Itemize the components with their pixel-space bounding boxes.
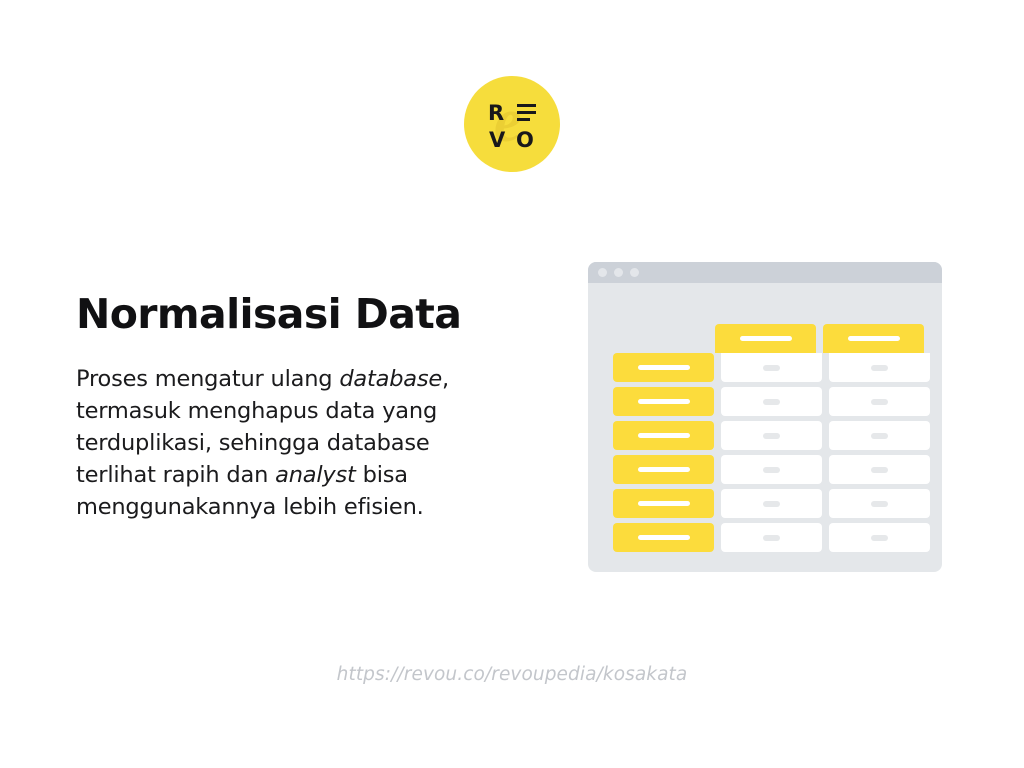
table-header-row — [715, 324, 924, 353]
table-row — [613, 489, 930, 518]
row-label-placeholder — [638, 365, 690, 370]
page-description: Proses mengatur ulang database, termasuk… — [76, 364, 506, 524]
table-cell — [721, 489, 822, 518]
window-dot-close-icon — [598, 268, 607, 277]
table-row — [613, 421, 930, 450]
description-italic-database: database — [339, 366, 442, 392]
table-row-header — [613, 523, 714, 552]
table-cell — [829, 353, 930, 382]
table-row-header — [613, 387, 714, 416]
browser-titlebar — [588, 262, 942, 283]
window-dot-maximize-icon — [630, 268, 639, 277]
header-label-placeholder — [848, 336, 900, 341]
description-italic-analyst: analyst — [275, 462, 356, 488]
table-cell — [721, 387, 822, 416]
table-row-header — [613, 421, 714, 450]
cell-value-placeholder — [763, 535, 780, 541]
table-cell — [721, 421, 822, 450]
cell-value-placeholder — [763, 501, 780, 507]
cell-value-placeholder — [763, 365, 780, 371]
table-cell — [829, 489, 930, 518]
text-column: Normalisasi Data Proses mengatur ulang d… — [76, 292, 526, 524]
header-label-placeholder — [740, 336, 792, 341]
logo-letter-e-icon — [517, 104, 536, 122]
cell-value-placeholder — [763, 399, 780, 405]
logo-glyphs: R V O — [464, 76, 560, 172]
row-label-placeholder — [638, 501, 690, 506]
cell-value-placeholder — [871, 535, 888, 541]
table-row — [613, 455, 930, 484]
table-cell — [829, 387, 930, 416]
table-row — [613, 523, 930, 552]
revou-logo: e R V O — [464, 76, 560, 172]
logo-letter-v: V — [489, 130, 505, 151]
table-row — [613, 353, 930, 382]
logo-letter-o: O — [516, 130, 534, 151]
table-row-header — [613, 353, 714, 382]
description-part-1: Proses mengatur ulang — [76, 366, 339, 392]
cell-value-placeholder — [871, 399, 888, 405]
table-column-header — [823, 324, 924, 353]
table-cell — [721, 455, 822, 484]
table-cell — [721, 523, 822, 552]
table-row — [613, 387, 930, 416]
row-label-placeholder — [638, 433, 690, 438]
cell-value-placeholder — [763, 467, 780, 473]
cell-value-placeholder — [763, 433, 780, 439]
table-body — [613, 353, 930, 557]
cell-value-placeholder — [871, 365, 888, 371]
table-column-header — [715, 324, 816, 353]
source-url: https://revou.co/revoupedia/kosakata — [0, 664, 1024, 685]
row-label-placeholder — [638, 535, 690, 540]
row-label-placeholder — [638, 467, 690, 472]
table-cell — [829, 455, 930, 484]
cell-value-placeholder — [871, 467, 888, 473]
table-cell — [829, 421, 930, 450]
cell-value-placeholder — [871, 501, 888, 507]
row-label-placeholder — [638, 399, 690, 404]
cell-value-placeholder — [871, 433, 888, 439]
table-cell — [721, 353, 822, 382]
browser-window-illustration — [588, 262, 942, 572]
table-cell — [829, 523, 930, 552]
table-row-header — [613, 455, 714, 484]
logo-letter-r: R — [488, 103, 504, 124]
browser-body — [588, 283, 942, 572]
window-dot-minimize-icon — [614, 268, 623, 277]
table-row-header — [613, 489, 714, 518]
page-title: Normalisasi Data — [76, 292, 526, 338]
